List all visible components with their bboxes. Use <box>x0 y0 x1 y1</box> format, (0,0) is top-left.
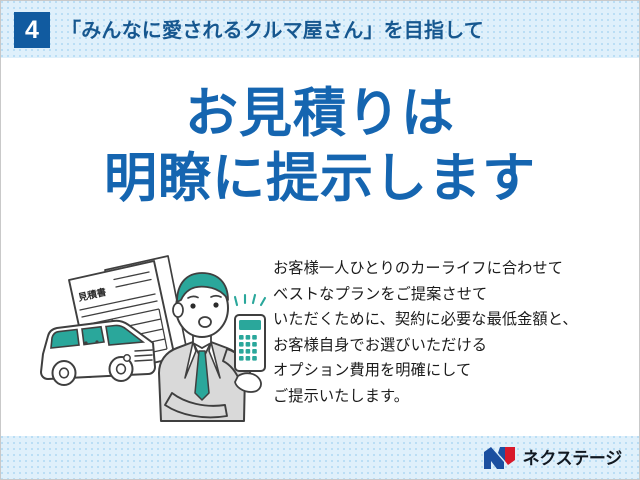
headline-line-1: お見積りは <box>1 83 639 146</box>
body-copy-line: お客様自身でお選びいただける <box>273 333 633 359</box>
headline-line-2: 明瞭に提示します <box>1 148 639 211</box>
nextage-n-logo-icon <box>484 447 516 470</box>
body-copy-line: オプション費用を明確にして <box>273 358 633 384</box>
promo-slide: 4 「みんなに愛されるクルマ屋さん」を目指して お見積りは 明瞭に提示します お… <box>0 0 640 480</box>
header-band: 4 「みんなに愛されるクルマ屋さん」を目指して <box>1 1 639 58</box>
section-number-badge: 4 <box>14 12 50 48</box>
brand-name: ネクステージ <box>523 450 622 467</box>
header-title: 「みんなに愛されるクルマ屋さん」を目指して <box>61 14 484 43</box>
brand-logo: ネクステージ <box>484 445 622 471</box>
footer-band: ネクステージ <box>1 436 639 479</box>
calculator <box>235 315 265 371</box>
main-content: お見積りは 明瞭に提示します お客様一人ひとりのカーライフに合わせて ベストなプ… <box>1 58 639 436</box>
calculator-display <box>239 320 261 330</box>
salesman-quote-car-illustration: 見積書 <box>35 253 273 423</box>
body-copy-line: いただくために、契約に必要な最低金額と、 <box>273 307 633 333</box>
body-copy-line: お客様一人ひとりのカーライフに合わせて <box>273 256 633 282</box>
body-copy-line: ベストなプランをご提案させて <box>273 282 633 308</box>
body-copy-line: ご提示いたします。 <box>273 384 633 410</box>
body-copy: お客様一人ひとりのカーライフに合わせて ベストなプランをご提案させて いただくた… <box>273 256 633 409</box>
sparkle-lines <box>235 295 265 305</box>
headline: お見積りは 明瞭に提示します <box>1 83 639 210</box>
